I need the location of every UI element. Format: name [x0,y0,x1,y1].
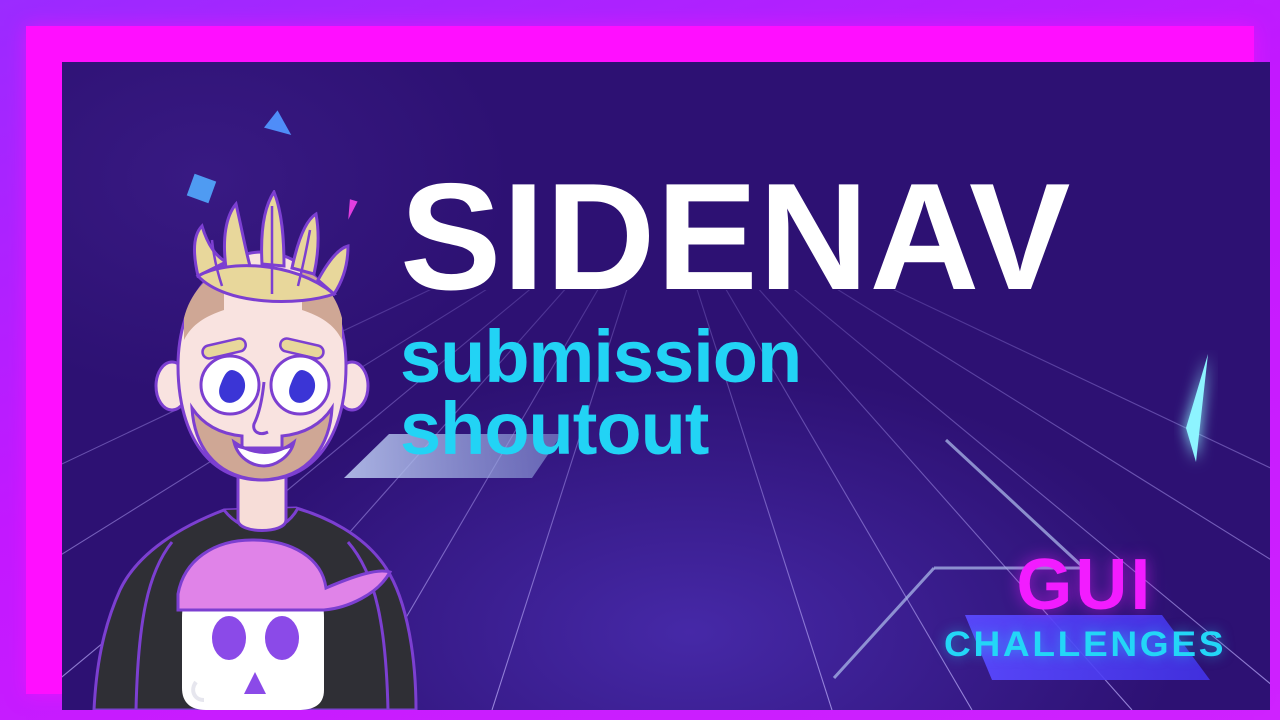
logo-primary-text: GUI [952,549,1218,621]
logo-secondary-text: CHALLENGES [944,627,1226,662]
page-title: SIDENAV [400,166,1210,309]
host-avatar [86,190,486,710]
subtitle-line-2: shoutout [400,393,1210,466]
headline-block: SIDENAV submission shoutout [400,166,1210,466]
neon-frame: SIDENAV submission shoutout GUI CHALLENG… [26,26,1254,694]
avatar-eye-right [271,356,329,414]
avatar-eye-left [201,356,259,414]
subtitle-block: submission shoutout [400,321,1210,466]
thumbnail-stage: SIDENAV submission shoutout GUI CHALLENG… [0,0,1280,720]
content-card: SIDENAV submission shoutout GUI CHALLENG… [62,62,1270,710]
gui-challenges-logo: GUI CHALLENGES [952,549,1218,662]
subtitle-line-1: submission [400,321,1210,394]
triangle-confetti-icon [264,110,298,143]
